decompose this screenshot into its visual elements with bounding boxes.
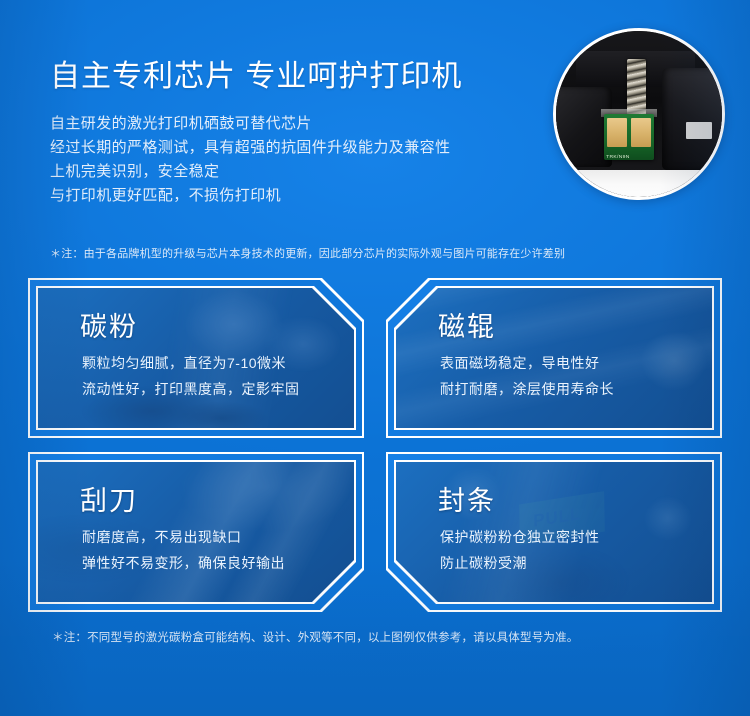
chip-housing-notch — [686, 122, 713, 139]
card-description-line: 表面磁场稳定，导电性好 — [440, 350, 614, 376]
card-inner-border: PULL 封条 保护碳粉粉仓独立密封性 防止碳粉受潮 — [394, 460, 714, 604]
feature-card-magnetic-roller[interactable]: 磁辊 表面磁场稳定，导电性好 耐打耐磨，涂层使用寿命长 — [386, 278, 722, 438]
subtitle-line: 经过长期的严格测试，具有超强的抗固件升级能力及兼容性 — [50, 136, 550, 160]
header-disclaimer-note: ＊注：由于各品牌机型的升级与芯片本身技术的更新，因此部分芯片的实际外观与图片可能… — [50, 246, 565, 262]
card-face: 刮刀 耐磨度高，不易出现缺口 弹性好不易变形，确保良好输出 — [38, 462, 354, 602]
chip-contact-pad — [607, 118, 627, 147]
feature-card-toner[interactable]: 碳粉 颗粒均匀细腻，直径为7-10微米 流动性好，打印黑度高，定影牢固 — [28, 278, 364, 438]
card-title: 磁辊 — [438, 310, 496, 344]
card-face: 碳粉 颗粒均匀细腻，直径为7-10微米 流动性好，打印黑度高，定影牢固 — [38, 288, 354, 428]
chip-pcb: TRK/N9N — [604, 114, 654, 160]
card-description-line: 耐磨度高，不易出现缺口 — [82, 524, 285, 550]
chip-photo-image: TRK/N9N — [556, 31, 722, 197]
card-description-line: 弹性好不易变形，确保良好输出 — [82, 550, 285, 576]
page-title: 自主专利芯片 专业呵护打印机 — [50, 58, 462, 96]
card-description-line: 防止碳粉受潮 — [440, 550, 600, 576]
card-face: 磁辊 表面磁场稳定，导电性好 耐打耐磨，涂层使用寿命长 — [396, 288, 712, 428]
header-subtitle-list: 自主研发的激光打印机硒鼓可替代芯片 经过长期的严格测试，具有超强的抗固件升级能力… — [50, 112, 550, 208]
feature-card-doctor-blade[interactable]: 刮刀 耐磨度高，不易出现缺口 弹性好不易变形，确保良好输出 — [28, 452, 364, 612]
card-inner-border: 磁辊 表面磁场稳定，导电性好 耐打耐磨，涂层使用寿命长 — [394, 286, 714, 430]
card-title: 碳粉 — [80, 310, 138, 344]
card-description-line: 流动性好，打印黑度高，定影牢固 — [82, 376, 300, 402]
card-description: 保护碳粉粉仓独立密封性 防止碳粉受潮 — [440, 524, 600, 576]
subtitle-line: 与打印机更好匹配，不损伤打印机 — [50, 184, 550, 208]
card-content: 磁辊 表面磁场稳定，导电性好 耐打耐磨，涂层使用寿命长 — [396, 288, 712, 428]
card-title: 封条 — [438, 484, 496, 518]
subtitle-line: 上机完美识别，安全稳定 — [50, 160, 550, 184]
chip-contact-pad — [631, 118, 651, 147]
card-description: 颗粒均匀细腻，直径为7-10微米 流动性好，打印黑度高，定影牢固 — [82, 350, 300, 402]
card-inner-border: 碳粉 颗粒均匀细腻，直径为7-10微米 流动性好，打印黑度高，定影牢固 — [36, 286, 356, 430]
card-content: 刮刀 耐磨度高，不易出现缺口 弹性好不易变形，确保良好输出 — [38, 462, 354, 602]
card-title: 刮刀 — [80, 484, 138, 518]
card-description: 表面磁场稳定，导电性好 耐打耐磨，涂层使用寿命长 — [440, 350, 614, 402]
card-content: 碳粉 颗粒均匀细腻，直径为7-10微米 流动性好，打印黑度高，定影牢固 — [38, 288, 354, 428]
feature-card-grid: 碳粉 颗粒均匀细腻，直径为7-10微米 流动性好，打印黑度高，定影牢固 磁辊 — [0, 278, 750, 618]
header-section: 自主专利芯片 专业呵护打印机 自主研发的激光打印机硒鼓可替代芯片 经过长期的严格… — [0, 0, 750, 240]
promo-banner: 自主专利芯片 专业呵护打印机 自主研发的激光打印机硒鼓可替代芯片 经过长期的严格… — [0, 0, 750, 716]
card-inner-border: 刮刀 耐磨度高，不易出现缺口 弹性好不易变形，确保良好输出 — [36, 460, 356, 604]
card-description-line: 耐打耐磨，涂层使用寿命长 — [440, 376, 614, 402]
card-face: PULL 封条 保护碳粉粉仓独立密封性 防止碳粉受潮 — [396, 462, 712, 602]
card-description: 耐磨度高，不易出现缺口 弹性好不易变形，确保良好输出 — [82, 524, 285, 576]
chip-housing-right — [662, 68, 722, 171]
subtitle-line: 自主研发的激光打印机硒鼓可替代芯片 — [50, 112, 550, 136]
card-description-line: 保护碳粉粉仓独立密封性 — [440, 524, 600, 550]
card-content: 封条 保护碳粉粉仓独立密封性 防止碳粉受潮 — [396, 462, 712, 602]
chip-photo-base — [556, 170, 722, 197]
chip-pcb-label: TRK/N9N — [606, 154, 630, 159]
chip-photo-circle: TRK/N9N — [553, 28, 725, 200]
card-description-line: 颗粒均匀细腻，直径为7-10微米 — [82, 350, 300, 376]
feature-card-seal[interactable]: PULL 封条 保护碳粉粉仓独立密封性 防止碳粉受潮 — [386, 452, 722, 612]
footer-disclaimer-note: ＊注：不同型号的激光碳粉盒可能结构、设计、外观等不同，以上图例仅供参考，请以具体… — [52, 630, 579, 646]
